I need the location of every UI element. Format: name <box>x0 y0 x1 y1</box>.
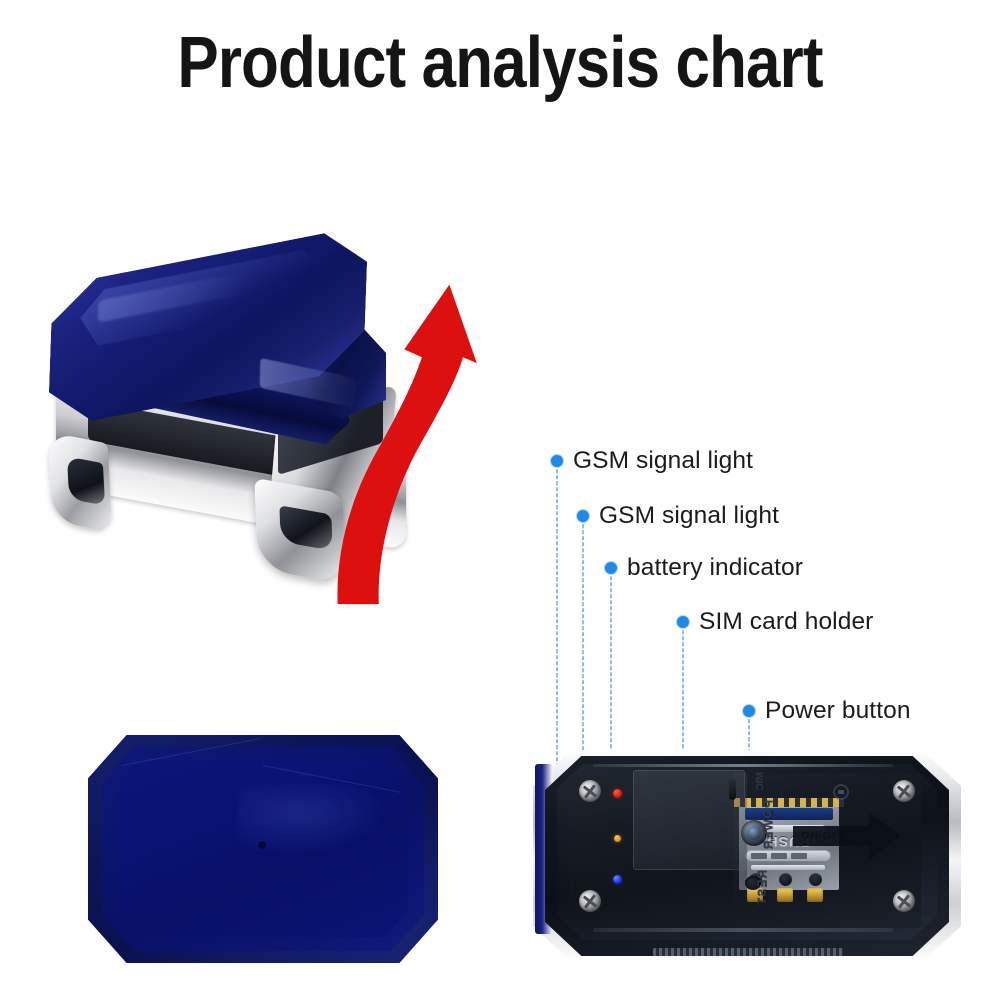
device-internals-view: PUSH MIC POWER REST <box>533 742 961 970</box>
screw-top-right <box>893 780 915 802</box>
mic-label: MIC <box>755 772 766 790</box>
sim-hole-3 <box>809 873 822 886</box>
page-title: Product analysis chart <box>70 22 930 104</box>
sim-seg-2 <box>771 853 787 859</box>
callout-dot-icon <box>677 616 689 628</box>
led-orange-battery <box>614 835 621 842</box>
callout-dot-icon <box>743 705 755 717</box>
bottom-contact-strip <box>653 948 843 956</box>
reset-label: REST <box>755 870 769 906</box>
callout-label: Power button <box>765 697 911 725</box>
sim-pins <box>734 798 844 807</box>
callout-label: GSM signal light <box>573 447 753 475</box>
mic-hole <box>729 778 736 800</box>
device-cover-top-view <box>88 735 438 965</box>
device-open-view <box>28 228 498 618</box>
led-red-gsm-signal <box>613 789 622 798</box>
sim-hole-2 <box>779 873 792 886</box>
lift-arrow <box>328 226 488 626</box>
body-top-seam <box>593 764 893 767</box>
screw-top-left <box>579 780 601 802</box>
sim-contact-2 <box>777 888 793 902</box>
led-blue-gsm-signal <box>613 875 622 884</box>
callout-label: battery indicator <box>627 554 803 582</box>
callout-dot-icon <box>605 562 617 574</box>
arrow-direction-label: ON-OFF <box>801 830 846 842</box>
callout-dot-icon <box>551 455 563 467</box>
screw-bottom-right <box>893 890 915 912</box>
callout-label: GSM signal light <box>599 502 779 530</box>
power-label: POWER <box>761 800 775 850</box>
screw-bottom-left <box>579 890 601 912</box>
page-root: Product analysis chart <box>0 0 1000 1000</box>
callout-dot-icon <box>577 510 589 522</box>
sim-contact-3 <box>807 888 823 902</box>
callout-label: SIM card holder <box>699 608 873 636</box>
battery-polarity-icon <box>833 784 849 800</box>
sim-seg-1 <box>751 853 767 859</box>
cover-center-dot <box>258 841 266 849</box>
body-bottom-seam <box>593 928 893 932</box>
